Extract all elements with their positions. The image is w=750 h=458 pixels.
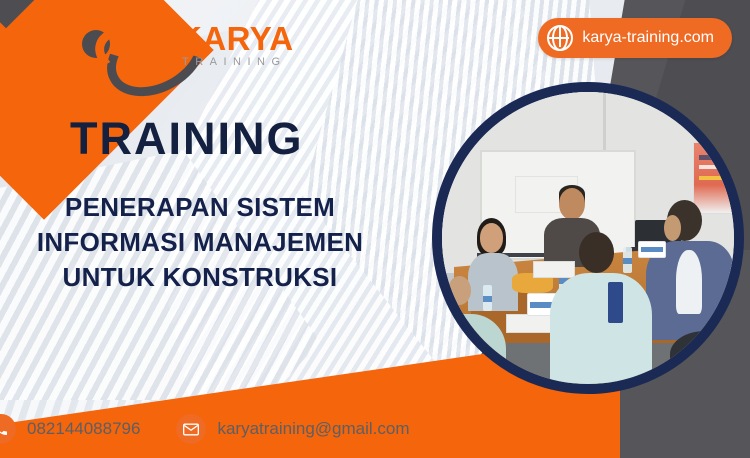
photo-person-lanyard bbox=[608, 282, 623, 323]
photo-wall-poster bbox=[693, 142, 736, 214]
photo-person-right-shirt bbox=[676, 250, 702, 314]
contact-info: 082144088796 karyatraining@gmail.com bbox=[0, 414, 410, 444]
subtitle-line-3: UNTUK KONSTRUKSI bbox=[0, 260, 400, 295]
photo-person-foreground-body bbox=[550, 273, 652, 384]
training-poster: KARYA TRAINING karya-training.com TRAINI… bbox=[0, 0, 750, 458]
subtitle-line-2: INFORMASI MANAJEMEN bbox=[0, 225, 400, 260]
envelope-icon bbox=[176, 414, 206, 444]
photo-chair bbox=[670, 331, 744, 389]
karya-logo[interactable]: KARYA TRAINING bbox=[78, 14, 278, 78]
logo-wordmark: KARYA bbox=[178, 20, 294, 58]
subtitle-block: PENERAPAN SISTEM INFORMASI MANAJEMEN UNT… bbox=[0, 190, 400, 294]
photo-bottle bbox=[483, 285, 492, 311]
email-address: karyatraining@gmail.com bbox=[217, 419, 409, 439]
phone-number: 082144088796 bbox=[27, 419, 140, 439]
page-title: TRAINING bbox=[70, 113, 304, 165]
photo-person-left-body bbox=[468, 253, 518, 311]
website-badge[interactable]: karya-training.com bbox=[538, 18, 732, 58]
training-photo-circle bbox=[432, 82, 744, 394]
photo-person-left-head bbox=[480, 223, 503, 252]
website-url: karya-training.com bbox=[582, 29, 714, 47]
photo-person-foreground-left-body bbox=[432, 314, 506, 390]
photo-papers bbox=[533, 261, 576, 278]
subtitle-line-1: PENERAPAN SISTEM bbox=[0, 190, 400, 225]
photo-papers bbox=[506, 314, 555, 334]
logo-tagline: TRAINING bbox=[182, 56, 287, 68]
photo-bottle bbox=[623, 247, 632, 273]
phone-icon bbox=[0, 414, 16, 444]
training-photo bbox=[442, 92, 734, 384]
photo-tissue-box bbox=[638, 241, 666, 258]
globe-icon bbox=[547, 25, 573, 51]
